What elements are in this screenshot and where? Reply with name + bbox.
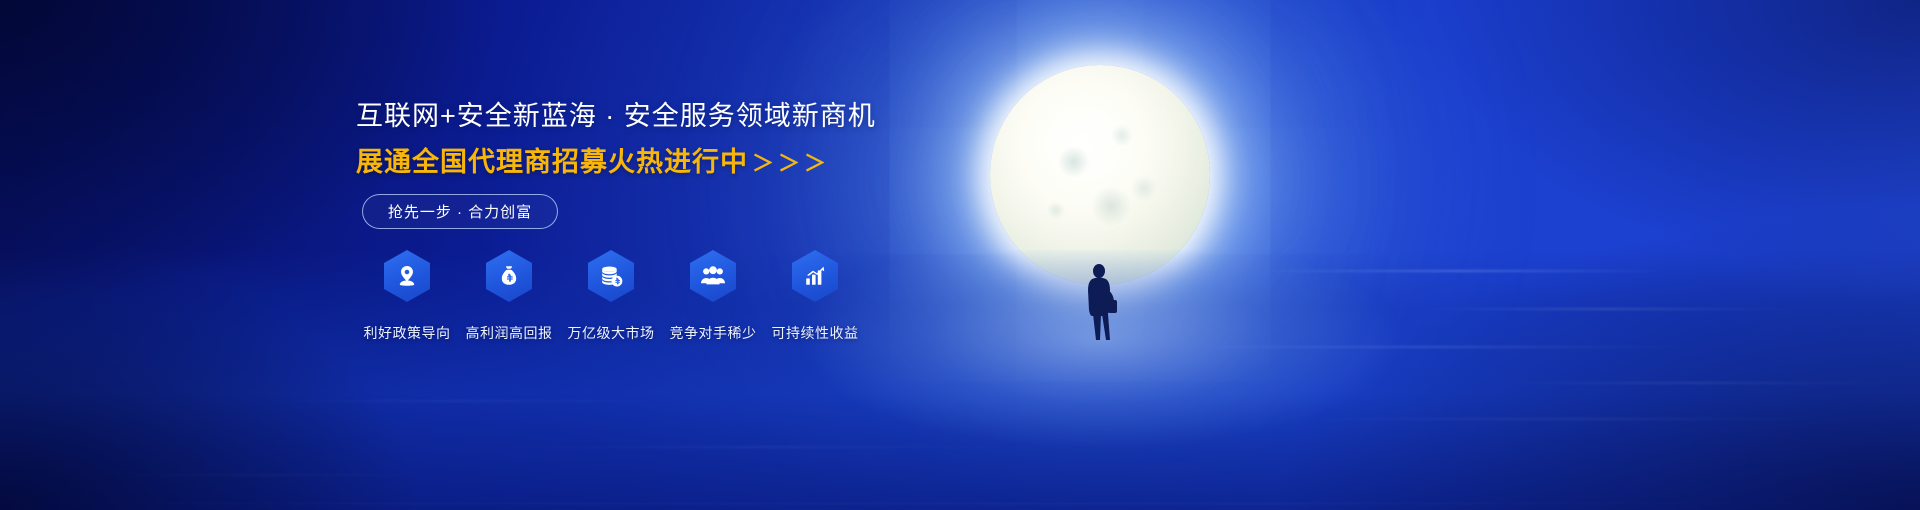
cta-pill-button[interactable]: 抢先一步 · 合力创富	[362, 194, 558, 229]
feature-hex-badge	[588, 250, 634, 302]
feature-label: 竞争对手稀少	[670, 323, 757, 343]
feature-hex-badge	[690, 250, 736, 302]
feature-label: 万亿级大市场	[568, 323, 655, 343]
feature-item[interactable]: 高利润高回报	[458, 250, 560, 343]
feature-item[interactable]: 万亿级大市场	[560, 250, 662, 343]
chevron-right-icon: ＞＞＞	[752, 146, 830, 178]
feature-label: 利好政策导向	[364, 323, 451, 343]
feature-item[interactable]: 利好政策导向	[356, 250, 458, 343]
location-pin-icon	[395, 264, 419, 288]
money-bag-icon	[497, 264, 521, 288]
feature-hex-badge	[792, 250, 838, 302]
feature-label: 可持续性收益	[772, 323, 859, 343]
feature-hex-badge	[486, 250, 532, 302]
feature-label: 高利润高回报	[466, 323, 553, 343]
hero-banner: 互联网+安全新蓝海 · 安全服务领域新商机 展通全国代理商招募火热进行中 ＞＞＞…	[0, 0, 1920, 510]
banner-headline: 互联网+安全新蓝海 · 安全服务领域新商机	[356, 99, 876, 133]
people-group-icon	[700, 264, 726, 288]
banner-content: 互联网+安全新蓝海 · 安全服务领域新商机 展通全国代理商招募火热进行中 ＞＞＞…	[0, 0, 1920, 510]
banner-subheadline-row: 展通全国代理商招募火热进行中 ＞＞＞	[356, 144, 830, 180]
banner-subheadline: 展通全国代理商招募火热进行中	[356, 144, 748, 180]
feature-item[interactable]: 可持续性收益	[764, 250, 866, 343]
feature-item[interactable]: 竞争对手稀少	[662, 250, 764, 343]
feature-list: 利好政策导向 高利润高回报	[356, 250, 866, 343]
feature-hex-badge	[384, 250, 430, 302]
bar-chart-up-icon	[803, 264, 827, 288]
cta-pill-label: 抢先一步 · 合力创富	[388, 201, 532, 222]
coin-stack-icon	[599, 264, 624, 289]
